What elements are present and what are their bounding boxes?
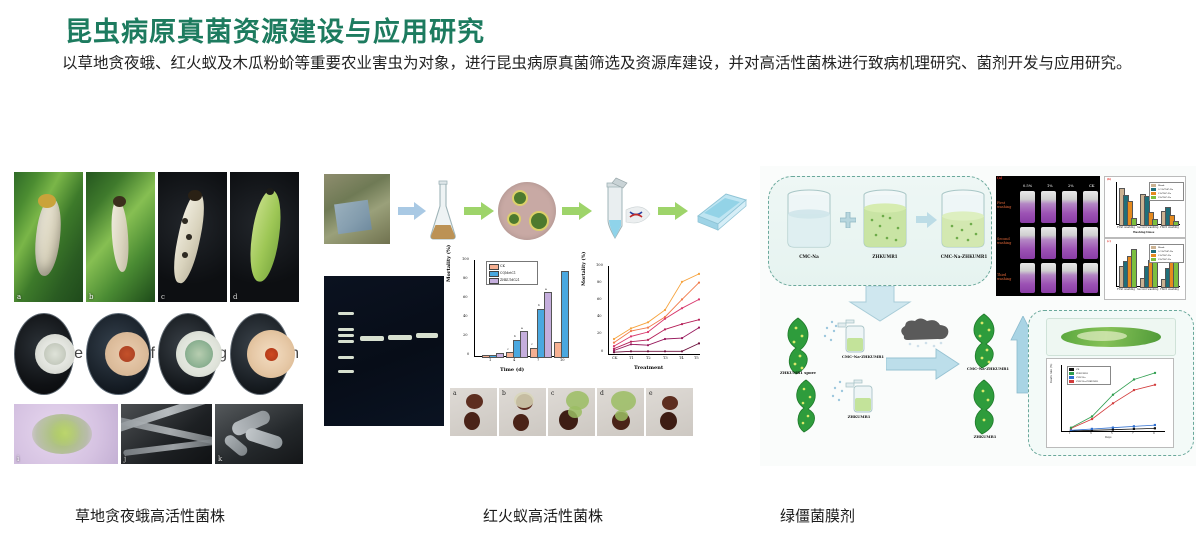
larvae-photo-row: a b c d [14,172,299,302]
chart-c-x-third: Third washing [1160,288,1179,291]
caption-panel-b: 红火蚁高活性菌株 [483,505,603,526]
treatment-line-chart: Mortality (%) Treatment 100 80 60 40 20 … [578,258,704,378]
leaf-result-2 [964,378,1004,436]
sublabel-d: d [233,293,237,301]
chart-b-legend-05: 0.5%CMC-Na [1158,188,1173,191]
chart-b-x-first: First washing [1117,226,1135,229]
ant-photo-c: c [548,388,595,436]
chart-c-x-second: Second washing [1137,288,1158,291]
sequencing-slide-icon [692,186,750,236]
x-tick-t1: T1 [629,356,634,360]
dr-x-1: 1 [1069,432,1071,435]
micrograph-k: k [215,404,303,464]
workflow-arrow-1-icon [398,202,426,220]
dr-x-3: 3 [1090,432,1092,435]
rain-cloud-icon [896,318,952,348]
chart-c-legend-2: 2%CMC-Na [1158,258,1171,261]
sig-a-7: a [545,287,547,291]
micrograph-row: i j k [14,404,303,464]
gel-electrophoresis-image [324,276,444,426]
tarp-region [334,200,372,234]
larva-photo-c: c [158,172,227,302]
bar-zhkumg21-7 [544,292,552,358]
erlenmeyer-flask-icon [428,180,458,242]
sublabel-b: b [89,293,93,301]
page-title: 昆虫病原真菌资源建设与应用研究 [65,10,485,49]
gel-col-1: 1% [1047,184,1053,188]
leaf-result-1 [964,312,1004,370]
spray-bottle-2-icon [830,374,876,416]
chart-c-tag: (c) [1107,240,1111,243]
bar-zhkumg21-4 [520,331,528,358]
ant-photo-b: b [499,388,546,436]
chart-c-legend-blank: Blank [1158,246,1164,249]
pcr-tube-dna-icon [596,176,652,244]
y-tick-60: 60 [463,295,468,299]
ant-photo-d: d [597,388,644,436]
sublabel-k: k [218,455,222,463]
y-axis-label: Mortality (%) [582,252,587,286]
y-tick-20: 20 [597,331,602,335]
x-tick-4: 4 [513,358,515,362]
legend-swatch-cqmetc1 [489,271,499,277]
gel-col-0-5: 0.5% [1023,184,1032,188]
beaker-cmc-na [784,188,834,250]
sublabel-i: i [17,455,19,463]
dr-x-5: 5 [1111,432,1113,435]
y-tick-100: 100 [462,257,469,261]
ant-label-e: e [649,390,653,397]
treated-leaf-photo [1046,318,1176,356]
chart-b-tag: (b) [1107,178,1111,181]
y-tick-0: 0 [467,352,469,356]
line-series-svg [608,266,700,354]
y-tick-60: 60 [597,297,602,301]
legend-label-ck: CK [500,264,505,268]
bar-cqmetc1-10 [561,271,569,359]
figure-strip: a b c d [0,166,1200,466]
sig-b-4: b [514,334,516,338]
x-axis-label: Time (d) [500,367,524,373]
larva-photo-b: b [86,172,155,302]
ant-label-b: b [502,390,506,397]
x-tick-7: 7 [537,358,539,362]
y-tick-80: 80 [597,280,602,284]
plus-icon [840,212,856,228]
y-tick-40: 40 [597,314,602,318]
beaker-label-cmc-na: CMC-Na [780,254,838,259]
ant-label-d: d [600,390,604,397]
chart-c-legend: Blank 0.5%CMC-Na 1%CMC-Na 2%CMC-Na [1149,244,1184,263]
petri-dish-colonies-icon [498,182,556,240]
legend-swatch-zhkumg21 [489,278,499,284]
petri-dish-f: f [86,308,155,400]
petri-dish-g: g [158,308,227,400]
y-tick-100: 100 [596,263,603,267]
ant-photo-e: e [646,388,693,436]
panel-spodoptera-strains: a b c d [14,166,304,466]
gel-col-ck: CK [1089,184,1094,188]
caption-panel-c: 绿僵菌膜剂 [780,505,855,526]
sig-c-7: c [531,342,533,346]
x-tick-t4: T4 [679,356,684,360]
sublabel-e: e [74,345,83,363]
petri-dish-e: e [14,308,83,400]
chart-b-legend-blank: Blank [1158,184,1164,187]
chart-b-xlabel: Washing times [1133,231,1154,234]
sig-c-4: c [507,347,509,351]
chart-legend: CK CQMetC1 ZHKUMG21 [486,261,538,285]
chart-b-legend-1: 1%CMC-Na [1158,192,1171,195]
x-tick-t3: T3 [663,356,668,360]
petri-dish-h: h [230,308,299,400]
beaker-label-cmc-na-zhkumr1: CMC-Na-ZHKUMR1 [934,254,994,259]
dr-legend-cmc-na-zhkumr1: CMC-Na-ZHKUMR1 [1076,380,1098,383]
beaker-zhkumr1 [860,188,910,250]
leaf-sprayed-2 [788,378,824,434]
dr-x-9: 9 [1153,432,1155,435]
dr-legend-zhkumr1: ZHKUMR1 [1076,372,1088,375]
chart-c-legend-1: 1%CMC-Na [1158,254,1171,257]
leaf-sprayed-1 [778,316,818,376]
chart-c-legend-05: 0.5%CMC-Na [1158,250,1173,253]
x-tick-10: 10 [560,358,565,362]
x-tick-t5: T5 [694,356,699,360]
gel-row-second: Second washing [997,238,1019,246]
washing-gel-panel: (a) 0.5% 1% 2% CK First washing Second w… [996,176,1100,296]
sublabel-a: a [17,293,21,301]
intro-paragraph: 以草地贪夜蛾、红火蚁及木瓜粉蚧等重要农业害虫为对象，进行昆虫病原真菌筛选及资源库… [30,48,1170,79]
chart-b-legend: Blank 0.5%CMC-Na 1%CMC-Na 2%CMC-Na [1149,182,1184,201]
x-tick-t2: T2 [646,356,651,360]
y-axis-label: Mortality (%) [446,245,452,282]
larva-photo-a: a [14,172,83,302]
ant-label-a: a [453,390,457,397]
x-tick-ck: CK [612,356,617,360]
leaf-label-result-zhkumr1: ZHKUMR1 [952,434,1018,439]
sublabel-f: f [151,345,155,363]
dr-legend-cmc-na: CMC-Na [1076,376,1086,379]
slide-page: 昆虫病原真菌资源建设与应用研究 以草地贪夜蛾、红火蚁及木瓜粉蚧等重要农业害虫为对… [0,0,1200,560]
y-tick-20: 20 [463,333,468,337]
sig-a-4: a [521,326,523,330]
mix-arrow-icon [916,212,938,228]
death-rate-ylabel: Death rate (%) [1050,364,1053,383]
death-rate-xlabel: Days [1105,436,1111,439]
wash-arrow-icon [886,348,960,380]
x-tick-1: 1 [489,358,491,362]
micrograph-i: i [14,404,118,464]
chart-b-x-third: Third washing [1160,226,1179,229]
legend-swatch-ck [489,264,499,270]
y-tick-40: 40 [463,314,468,318]
panel-fire-ant-strains: Mortality (%) Time (d) 100 80 60 40 20 0… [316,166,756,466]
mortality-bar-chart: Mortality (%) Time (d) 100 80 60 40 20 0… [444,252,572,378]
y-tick-0: 0 [601,349,603,353]
gel-row-third: Third washing [997,274,1019,282]
workflow-arrow-4-icon [658,202,688,220]
petri-dish-row: e f g [14,308,299,400]
leaf-label-zhkumr1-spore: ZHKUMR1 spore [762,370,834,375]
workflow-arrow-2-icon [464,202,494,220]
gel-col-2: 2% [1068,184,1074,188]
gel-row-first: First washing [997,202,1019,210]
y-tick-80: 80 [463,276,468,280]
sublabel-c: c [161,293,165,301]
ant-photo-a: a [450,388,497,436]
larva-photo-d: d [230,172,299,302]
chart-b-legend-2: 2%CMC-Na [1158,196,1171,199]
ant-photo-row: a b c d [450,388,693,436]
sig-b-7: b [538,303,540,307]
workflow-arrow-3-icon [562,202,592,220]
sublabel-j: j [124,455,126,463]
bar-zhkumg21-1 [496,353,504,358]
x-axis-label: Treatment [634,365,663,371]
spray-bottle-1-icon [822,314,868,356]
death-rate-line-chart: Death rate (%) Days 1 3 5 7 9 [1046,358,1174,448]
field-sample-photo [324,174,390,244]
washing-bar-chart-b: (b) First washing Second washing Third w… [1104,176,1186,238]
panel-green-muscardine-film: CMC-Na [760,166,1196,466]
chart-c-x-first: First washing [1117,288,1135,291]
dr-legend-ck: CK [1076,368,1079,371]
chart-b-x-second: Second washing [1137,226,1158,229]
beaker-cmc-na-zhkumr1 [938,188,988,250]
ant-label-c: c [551,390,554,397]
beaker-label-zhkumr1: ZHKUMR1 [856,254,914,259]
gel-tag: (a) [997,177,1002,181]
spray-label-zhkumr1: ZHKUMR1 [830,414,888,419]
legend-label-cqmetc1: CQMetC1 [500,271,516,275]
micrograph-j: j [121,404,212,464]
caption-panel-a: 草地贪夜蛾高活性菌株 [75,505,225,526]
legend-label-zhkumg21: ZHKUMG21 [500,278,520,282]
dr-x-7: 7 [1132,432,1134,435]
washing-bar-chart-c: (c) First washing Second washing Third w… [1104,238,1186,300]
death-rate-legend: CK ZHKUMR1 CMC-Na CMC-Na-ZHKUMR1 [1067,366,1111,385]
